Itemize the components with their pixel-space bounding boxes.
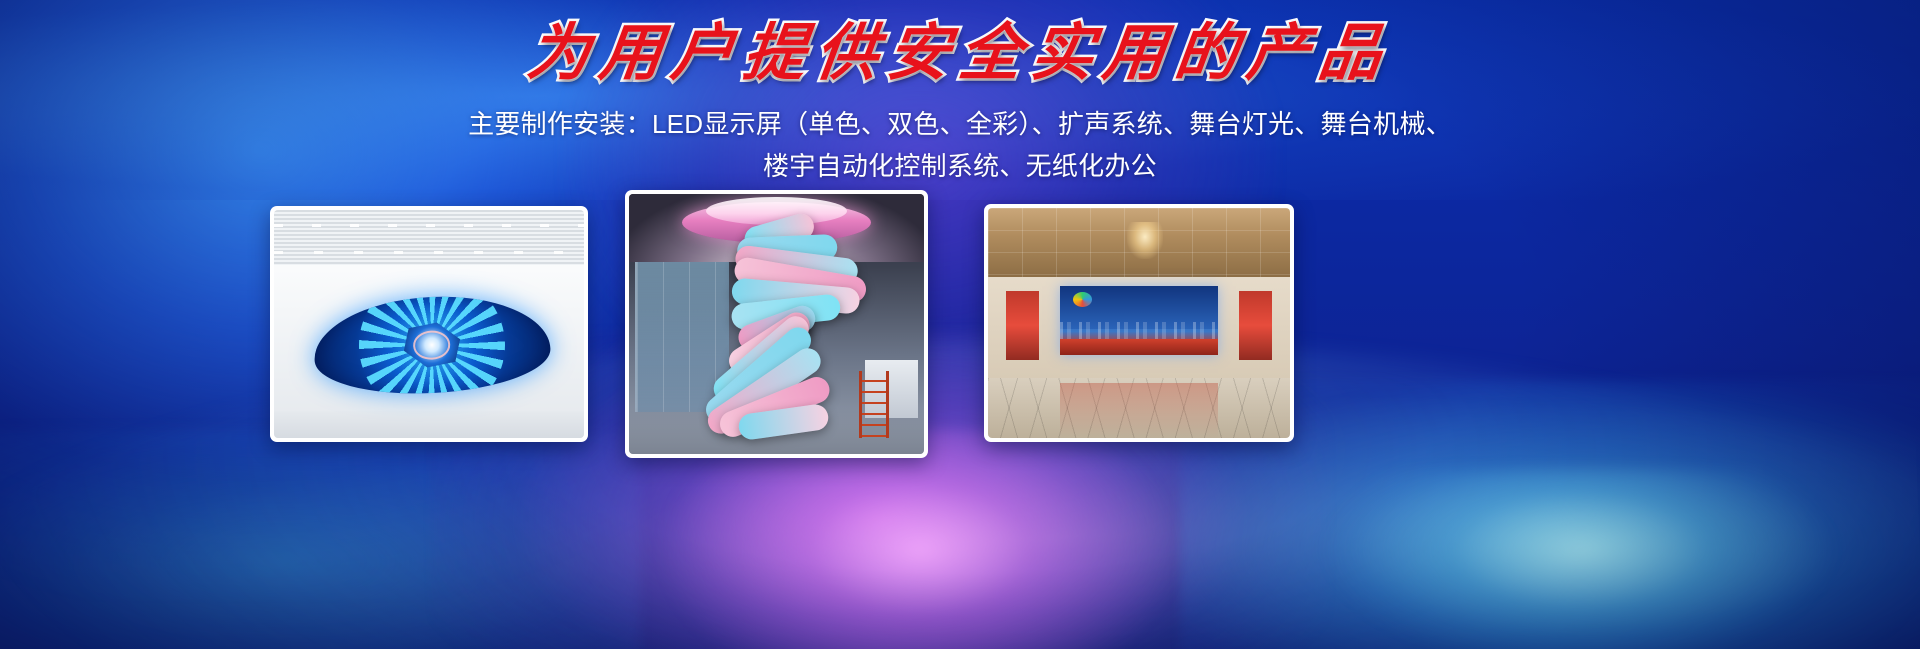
photo-eye-shaped-led-screen-lobby[interactable]	[270, 206, 588, 442]
spiral-led-screen	[712, 220, 848, 433]
side-led-banner-right	[1239, 291, 1272, 360]
screen-city-skyline	[1060, 322, 1217, 340]
photo-gallery	[0, 0, 1920, 649]
photo-conference-hall-stage-led-screen[interactable]	[984, 204, 1294, 442]
chandelier	[1127, 222, 1163, 259]
photo-3-image	[988, 208, 1290, 438]
screen-red-banner	[1060, 339, 1217, 356]
ceiling-light-row-2	[274, 251, 584, 254]
stage-led-screen	[1060, 286, 1217, 355]
photo-spiral-led-column-atrium[interactable]	[625, 190, 928, 458]
side-led-banner-left	[1006, 291, 1039, 360]
subtitle-line-2: 楼宇自动化控制系统、无纸化办公	[0, 145, 1920, 187]
photo-2-image	[629, 194, 924, 454]
headline-container: 为用户提供安全实用的产品	[0, 22, 1920, 84]
lobby-ceiling	[274, 210, 584, 265]
lobby-floor	[274, 411, 584, 438]
photo-1-image	[274, 210, 584, 438]
page-title: 为用户提供安全实用的产品	[525, 22, 1396, 84]
promo-banner: 为用户提供安全实用的产品 主要制作安装：LED显示屏（单色、双色、全彩）、扩声系…	[0, 0, 1920, 649]
step-ladder	[859, 371, 889, 439]
subtitle-container: 主要制作安装：LED显示屏（单色、双色、全彩）、扩声系统、舞台灯光、舞台机械、 …	[0, 103, 1920, 187]
screen-company-logo	[1073, 292, 1092, 307]
floor-reflection	[1060, 383, 1217, 438]
subtitle-line-1: 主要制作安装：LED显示屏（单色、双色、全彩）、扩声系统、舞台灯光、舞台机械、	[0, 103, 1920, 145]
ceiling-light-row-1	[274, 224, 584, 227]
